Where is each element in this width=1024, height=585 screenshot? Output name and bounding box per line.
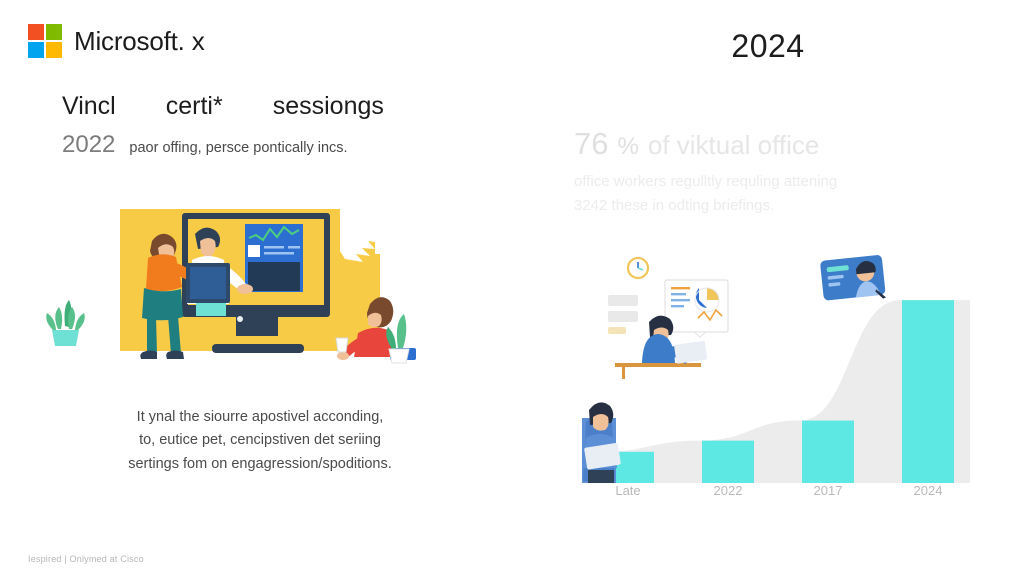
blurb-line-2: to, eutice pet, cencipstiven det seriing — [60, 429, 460, 452]
brand-name: Microsoft. x — [74, 26, 205, 57]
growth-bar-chart — [570, 250, 970, 520]
chart-bar[interactable] — [902, 300, 954, 483]
axis-label-0: Late — [615, 483, 640, 498]
virtual-meeting-illustration — [40, 196, 440, 386]
ghost-body-line-1: office workers regulltly requling atteni… — [574, 170, 974, 194]
blurb-line-1: It ynal the siourre apostivel acconding, — [60, 406, 460, 429]
ghost-stat-percent: % — [617, 133, 638, 161]
ghost-stat-value: 76 — [574, 126, 608, 162]
chart-axis-labels: Late 2022 2017 2024 — [570, 483, 970, 505]
headline-word-3: sessiongs — [273, 92, 384, 121]
subheadline-text: paor offing, persce pontically incs. — [129, 140, 347, 156]
axis-label-1: 2022 — [714, 483, 743, 498]
axis-label-2: 2017 — [814, 483, 843, 498]
plant-left — [46, 300, 85, 346]
ghost-headline: 76 % of viktual office — [574, 126, 974, 162]
left-headline: Vincl certi* sessiongs — [62, 92, 482, 121]
left-panel: Microsoft. x Vincl certi* sessiongs 2022… — [0, 0, 512, 585]
ghost-body-line-2: 3242 these in odting briefings. — [574, 194, 974, 218]
footer-credit: Iespired | Onlymed at Cisco — [28, 554, 144, 564]
chart-bar[interactable] — [702, 441, 754, 483]
left-blurb: It ynal the siourre apostivel acconding,… — [60, 406, 460, 476]
microsoft-logo-icon — [28, 24, 62, 58]
brand-row: Microsoft. x — [28, 24, 205, 58]
chart-bar[interactable] — [802, 421, 854, 483]
ghost-stat-tail: of viktual office — [648, 130, 820, 161]
axis-label-3: 2024 — [914, 483, 943, 498]
right-panel: 2024 76 % of viktual office office worke… — [512, 0, 1024, 585]
video-call-card — [820, 255, 886, 305]
person-with-laptop-standing — [582, 402, 621, 483]
left-subheadline: 2022 paor offing, persce pontically incs… — [62, 131, 492, 159]
headline-word-2: certi* — [166, 92, 223, 121]
person-at-desk-with-dashboard — [608, 258, 728, 379]
ghost-body: office workers regulltly requling atteni… — [574, 170, 974, 219]
subheadline-year: 2022 — [62, 131, 115, 159]
headline-word-1: Vincl — [62, 92, 116, 121]
page-title: 2024 — [512, 28, 1024, 65]
slide-root: Microsoft. x Vincl certi* sessiongs 2022… — [0, 0, 1024, 585]
blurb-line-3: sertings fom on engagression/spoditions. — [60, 453, 460, 476]
